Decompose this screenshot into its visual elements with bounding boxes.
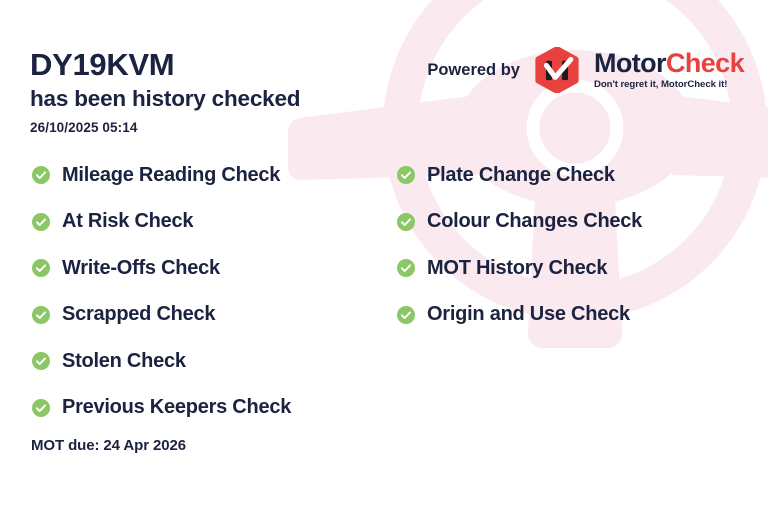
check-circle-icon [397,306,415,324]
check-list-item: Write-Offs Check [32,245,392,292]
history-check-summary-card: DY19KVM has been history checked 26/10/2… [0,0,768,512]
check-circle-icon [32,306,50,324]
check-list-item: MOT History Check [397,245,757,292]
check-circle-icon [32,399,50,417]
check-circle-icon [32,259,50,277]
check-timestamp: 26/10/2025 05:14 [30,120,430,135]
check-list-item-label: MOT History Check [427,257,607,280]
checks-column-right: Plate Change CheckColour Changes CheckMO… [397,152,757,338]
motorcheck-wordmark: MotorCheck [594,50,744,77]
motorcheck-wordmark-block: MotorCheck Don't regret it, MotorCheck i… [594,50,744,90]
motorcheck-hexagon-logo-icon [534,47,580,93]
check-list-item-label: At Risk Check [62,210,193,233]
check-list-item: Mileage Reading Check [32,152,392,199]
check-list-item-label: Plate Change Check [427,164,615,187]
powered-by-brand-block: Powered by MotorCheck Don't regret it, M… [427,47,744,93]
check-list-item-label: Scrapped Check [62,303,215,326]
header-block: DY19KVM has been history checked 26/10/2… [30,48,430,135]
check-circle-icon [32,166,50,184]
check-circle-icon [397,259,415,277]
checks-column-left: Mileage Reading CheckAt Risk CheckWrite-… [32,152,392,431]
check-list-item: Origin and Use Check [397,292,757,339]
check-list-item: Stolen Check [32,338,392,385]
page-title-registration-plate: DY19KVM [30,48,430,81]
check-list-item-label: Write-Offs Check [62,257,220,280]
check-list-item: Plate Change Check [397,152,757,199]
wordmark-motor: Motor [594,48,666,78]
brand-tagline: Don't regret it, MotorCheck it! [594,80,744,90]
check-list-item-label: Origin and Use Check [427,303,630,326]
check-list-item-label: Mileage Reading Check [62,164,280,187]
check-circle-icon [32,352,50,370]
check-list-item-label: Colour Changes Check [427,210,642,233]
check-list-item-label: Previous Keepers Check [62,396,291,419]
wordmark-check: Check [666,48,744,78]
check-circle-icon [32,213,50,231]
check-list-item: At Risk Check [32,199,392,246]
check-list-item-label: Stolen Check [62,350,186,373]
check-circle-icon [397,166,415,184]
powered-by-label: Powered by [427,61,520,80]
check-list-item: Previous Keepers Check [32,385,392,432]
page-subtitle: has been history checked [30,85,430,113]
check-circle-icon [397,213,415,231]
mot-due-text: MOT due: 24 Apr 2026 [31,437,186,454]
check-list-item: Scrapped Check [32,292,392,339]
check-list-item: Colour Changes Check [397,199,757,246]
